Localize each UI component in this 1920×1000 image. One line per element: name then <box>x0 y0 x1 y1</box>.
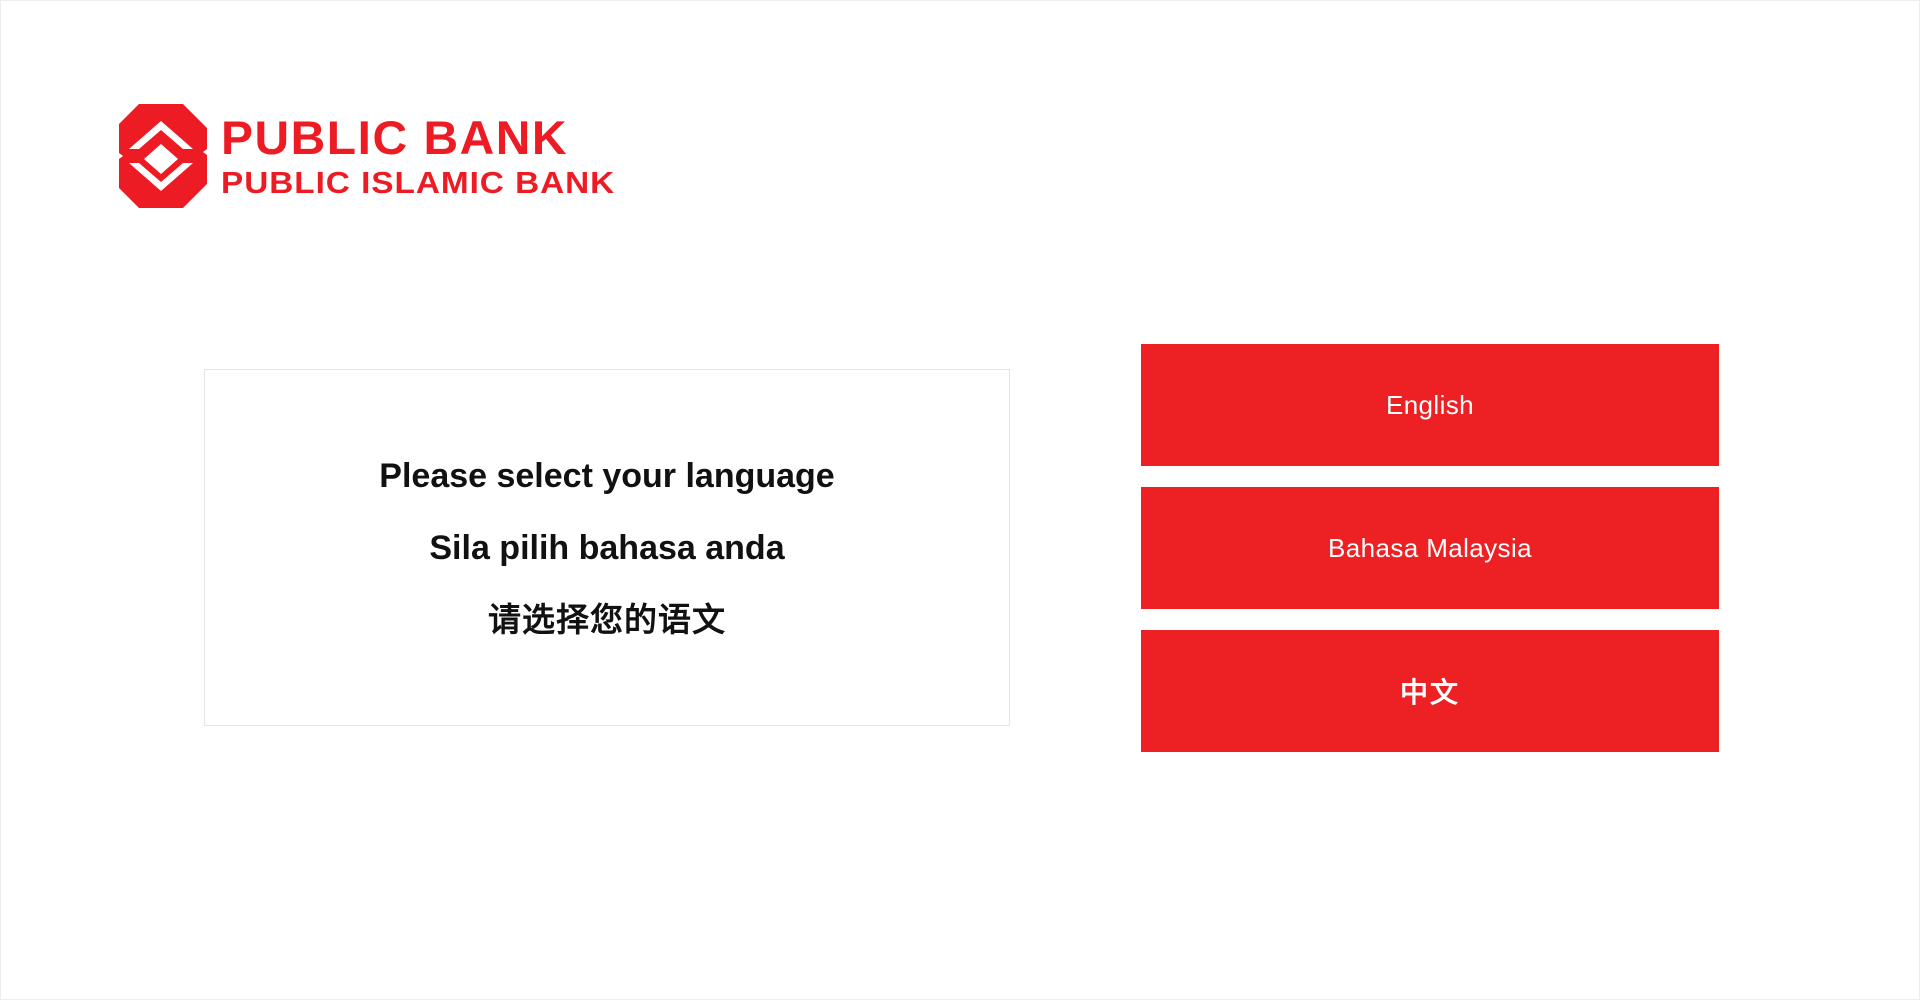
prompt-line-english: Please select your language <box>379 459 834 493</box>
language-prompt-panel: Please select your language Sila pilih b… <box>204 369 1010 726</box>
brand-wordmark: PUBLIC BANK PUBLIC ISLAMIC BANK <box>221 114 588 198</box>
language-selection-screen: PUBLIC BANK PUBLIC ISLAMIC BANK Please s… <box>0 0 1920 1000</box>
prompt-line-malay: Sila pilih bahasa anda <box>429 531 784 565</box>
brand-name-primary: PUBLIC BANK <box>221 114 595 161</box>
public-bank-octagon-logo-icon <box>115 104 207 208</box>
language-button-chinese[interactable]: 中文 <box>1141 630 1719 752</box>
language-button-bahasa-malaysia[interactable]: Bahasa Malaysia <box>1141 487 1719 609</box>
prompt-line-chinese: 请选择您的语文 <box>488 603 726 636</box>
brand-logo: PUBLIC BANK PUBLIC ISLAMIC BANK <box>115 104 588 208</box>
brand-name-secondary: PUBLIC ISLAMIC BANK <box>221 167 615 198</box>
language-button-english[interactable]: English <box>1141 344 1719 466</box>
language-options-list: English Bahasa Malaysia 中文 <box>1141 344 1719 752</box>
